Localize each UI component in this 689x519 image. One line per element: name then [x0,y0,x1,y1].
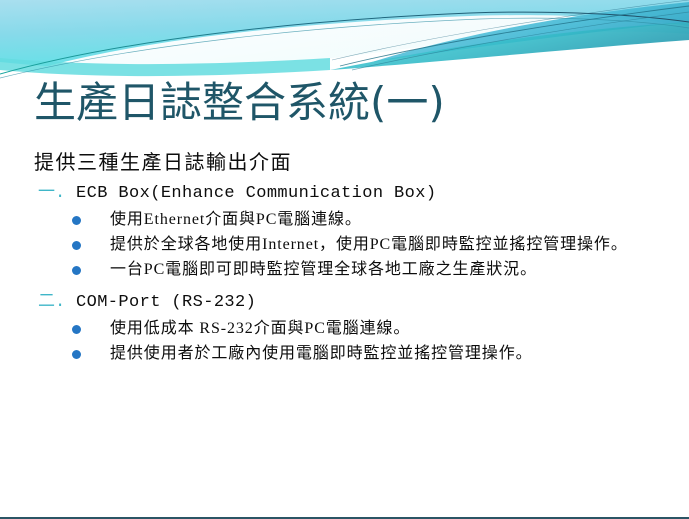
numbered-heading-2: COM-Port (RS-232) [76,293,256,312]
list-item-label: 使用低成本 RS-232介面與PC電腦連線。 [110,320,410,337]
wave-contour-line-3 [340,6,689,66]
wave-band-a [372,2,689,62]
bullet-dot-icon [72,266,81,275]
wave-decoration-graphic [0,0,689,80]
list-item-label: 一台PC電腦即可即時監控管理全球各地工廠之生產狀況。 [110,261,537,278]
wave-contour-line-1 [0,12,689,74]
list-item: 一台PC電腦即可即時監控管理全球各地工廠之生產狀況。 [34,257,664,282]
list-item: 提供使用者於工廠內使用電腦即時監控並搖控管理操作。 [34,341,664,366]
list-item: 提供於全球各地使用Internet，使用PC電腦即時監控並搖控管理操作。 [34,232,664,257]
wave-main-band [0,0,689,69]
numbered-item-1: 一. ECB Box(Enhance Communication Box) [34,181,664,206]
sub-bullet-list-1: 使用Ethernet介面與PC電腦連線。 提供於全球各地使用Internet，使… [34,207,664,282]
bullet-dot-icon [72,350,81,359]
page-title: 生產日誌整合系統(一) [34,76,654,130]
numbered-marker-2: 二. [38,290,68,315]
list-item: 使用Ethernet介面與PC電腦連線。 [34,207,664,232]
title-placeholder: 生產日誌整合系統(一) [34,76,654,136]
wave-contour-line-2 [0,18,689,78]
bullet-dot-icon [72,325,81,334]
bullet-dot-icon [72,216,81,225]
wave-band-b [330,22,689,70]
section-spacer [34,282,664,287]
list-item: 使用低成本 RS-232介面與PC電腦連線。 [34,316,664,341]
wave-turquoise-tail [0,58,330,76]
list-item-label: 提供於全球各地使用Internet，使用PC電腦即時監控並搖控管理操作。 [110,236,628,253]
sub-bullet-list-2: 使用低成本 RS-232介面與PC電腦連線。 提供使用者於工廠內使用電腦即時監控… [34,316,664,366]
wave-contour-line-5 [332,0,689,60]
lead-statement: 提供三種生產日誌輸出介面 [34,148,664,178]
numbered-item-2: 二. COM-Port (RS-232) [34,290,664,315]
list-item-label: 使用Ethernet介面與PC電腦連線。 [110,211,362,228]
presentation-slide: 生產日誌整合系統(一) 提供三種生產日誌輸出介面 一. ECB Box(Enha… [0,0,689,519]
list-item-label: 提供使用者於工廠內使用電腦即時監控並搖控管理操作。 [110,345,533,362]
wave-svg [0,0,689,80]
numbered-marker-1: 一. [38,181,68,206]
bullet-dot-icon [72,241,81,250]
wave-contour-line-4 [352,12,689,70]
wave-white-sweep [0,15,689,80]
content-placeholder: 提供三種生產日誌輸出介面 一. ECB Box(Enhance Communic… [34,148,664,366]
numbered-heading-1: ECB Box(Enhance Communication Box) [76,184,436,203]
